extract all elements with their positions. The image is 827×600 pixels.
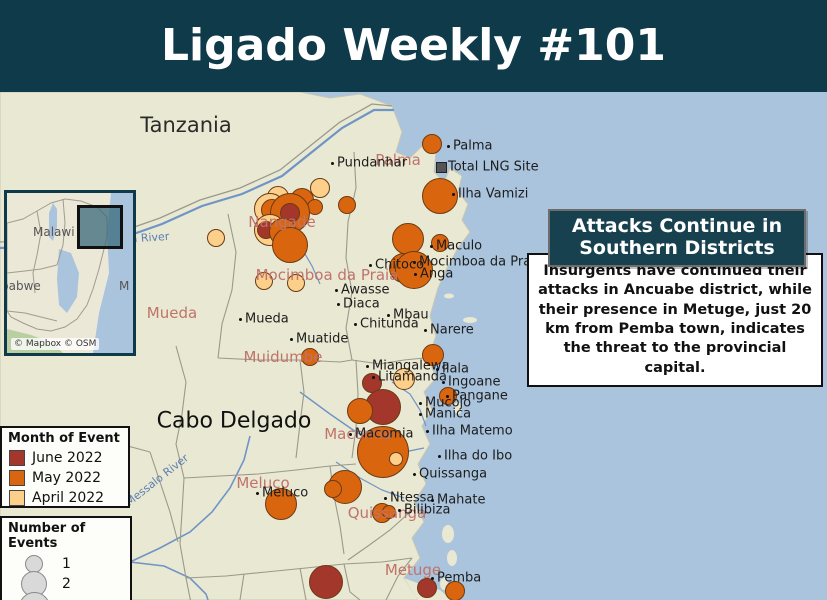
legend-month-row: April 2022	[6, 488, 124, 508]
legend-month-label: June 2022	[32, 450, 103, 466]
event-circle[interactable]	[310, 178, 330, 198]
event-circle[interactable]	[347, 398, 373, 424]
map-town-dot	[331, 162, 334, 165]
event-circle[interactable]	[422, 344, 444, 366]
map-town-dot	[431, 499, 434, 502]
event-circle[interactable]	[255, 272, 273, 290]
map-town-dot	[438, 455, 441, 458]
map-town-dot	[446, 395, 449, 398]
map-town-dot	[442, 381, 445, 384]
event-circle[interactable]	[422, 178, 458, 214]
legend-count-rows: 123456	[6, 553, 126, 600]
map-town-dot	[256, 492, 259, 495]
inset-attribution: © Mapbox © OSM	[11, 338, 99, 350]
map-town-dot	[387, 314, 390, 317]
event-circle[interactable]	[395, 251, 433, 289]
map-town-dot	[431, 577, 434, 580]
map-town-dot	[413, 261, 416, 264]
event-circle[interactable]	[422, 134, 442, 154]
map-town-dot	[424, 329, 427, 332]
legend-month-of-event: Month of Event June 2022May 2022April 20…	[0, 426, 130, 508]
map-town-dot	[335, 289, 338, 292]
map-town-dot	[419, 413, 422, 416]
map-town-dot	[414, 273, 417, 276]
event-circle[interactable]	[301, 348, 319, 366]
legend-month-title: Month of Event	[8, 431, 124, 446]
map-town-dot	[239, 318, 242, 321]
event-circle[interactable]	[392, 223, 424, 255]
event-circle[interactable]	[389, 452, 403, 466]
event-circle[interactable]	[265, 488, 297, 520]
map-town-dot	[372, 376, 375, 379]
legend-month-rows: June 2022May 2022April 2022	[6, 448, 124, 508]
event-circle[interactable]	[445, 581, 465, 600]
legend-month-row: June 2022	[6, 448, 124, 468]
inset-locator-map[interactable]: Malawi babwe M © Mapbox © OSM	[4, 190, 136, 356]
callout-body-text: Insurgents have continued their attacks …	[529, 262, 821, 378]
legend-number-of-events: Number of Events 123456	[0, 516, 132, 600]
map-town-dot	[369, 264, 372, 267]
map-town-dot	[436, 368, 439, 371]
event-circle[interactable]	[338, 196, 356, 214]
map-town-dot	[398, 509, 401, 512]
event-circle[interactable]	[207, 229, 225, 247]
page-title: Ligado Weekly #101	[161, 24, 666, 68]
inset-label-malawi: Malawi	[33, 225, 75, 239]
event-circle[interactable]	[431, 234, 449, 252]
callout-title-text: Attacks Continue in Southern Districts	[550, 216, 804, 260]
map-town-dot	[419, 402, 422, 405]
event-circle[interactable]	[357, 426, 409, 478]
lng-site-icon	[436, 162, 447, 173]
event-circle[interactable]	[417, 578, 437, 598]
legend-color-swatch	[9, 470, 25, 486]
event-circle[interactable]	[309, 565, 343, 599]
page-header: Ligado Weekly #101	[0, 0, 827, 92]
event-circle[interactable]	[272, 227, 308, 263]
map-town-dot	[447, 145, 450, 148]
legend-size-label: 2	[62, 576, 71, 592]
map-town-dot	[413, 473, 416, 476]
callout-box: Insurgents have continued their attacks …	[527, 253, 823, 387]
inset-highlight-box	[77, 205, 123, 249]
event-circle[interactable]	[287, 274, 305, 292]
inset-label-madagascar: M	[119, 279, 129, 293]
callout-header: Attacks Continue in Southern Districts	[548, 209, 806, 267]
legend-month-label: May 2022	[32, 470, 101, 486]
inset-label-zimbabwe: babwe	[4, 279, 41, 293]
legend-color-swatch	[9, 490, 25, 506]
legend-month-label: April 2022	[32, 490, 104, 506]
map-town-dot	[354, 323, 357, 326]
event-circle[interactable]	[393, 368, 415, 390]
legend-size-label: 1	[62, 556, 71, 572]
map-town-dot	[366, 365, 369, 368]
map-canvas[interactable]: TanzaniaCabo DelgadoPalmaNangadeMocimboa…	[0, 92, 827, 600]
map-town-dot	[290, 338, 293, 341]
legend-size-circle	[19, 592, 50, 600]
map-town-dot	[349, 433, 352, 436]
event-circle[interactable]	[324, 480, 342, 498]
event-circle[interactable]	[382, 505, 396, 519]
map-town-dot	[426, 430, 429, 433]
map-town-dot	[384, 497, 387, 500]
legend-month-row: May 2022	[6, 468, 124, 488]
map-town-dot	[337, 303, 340, 306]
map-town-dot	[430, 245, 433, 248]
map-town-dot	[452, 193, 455, 196]
legend-count-title: Number of Events	[8, 521, 126, 551]
legend-color-swatch	[9, 450, 25, 466]
